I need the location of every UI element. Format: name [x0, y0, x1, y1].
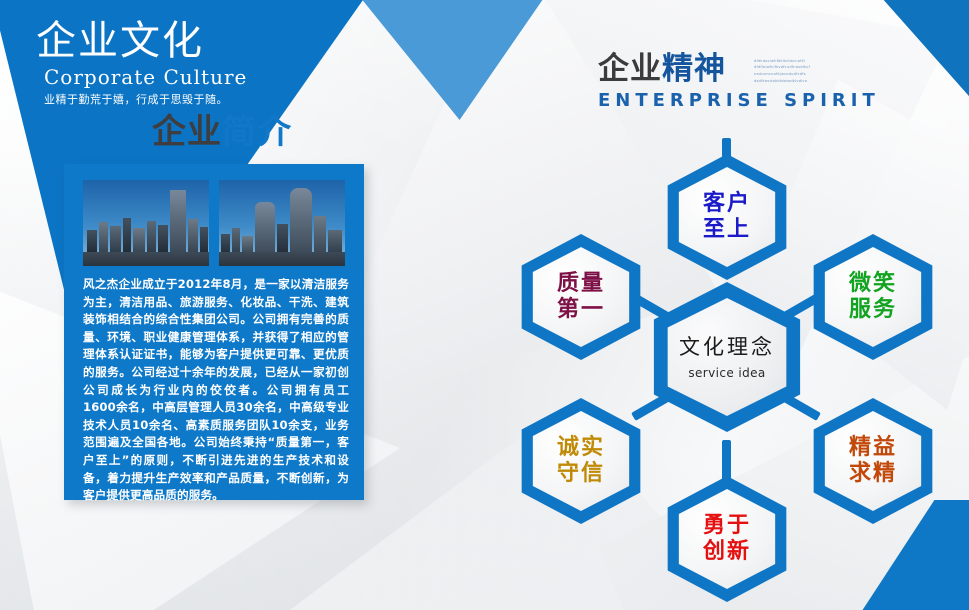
hex-node-quality-first[interactable]: 质量 第一: [512, 234, 650, 360]
hex-label-line2: 第一: [557, 297, 605, 323]
hex-node-continuous-improvement[interactable]: 精益 求精: [804, 398, 942, 524]
hex-center-title-en: service idea: [688, 366, 765, 381]
header-left-title-cn: 企业文化: [36, 18, 356, 64]
header-left-title-en: Corporate Culture: [44, 64, 356, 90]
hex-label-line1: 诚实: [557, 435, 605, 461]
hex-center-culture-concept[interactable]: 文化理念 service idea: [642, 282, 812, 432]
hex-label-line2: 求精: [849, 461, 897, 487]
hex-node-brave-innovation[interactable]: 勇于 创新: [658, 476, 796, 602]
hex-label-line1: 勇于: [703, 513, 751, 539]
hex-node-smile-service[interactable]: 微笑 服务: [804, 234, 942, 360]
hex-label-line2: 守信: [557, 461, 605, 487]
header-right: 企业精神 ENTERPRISE SPIRIT dfdkdociwhfdklkdi…: [598, 50, 928, 112]
cityscape-photo-2: [219, 180, 345, 266]
hex-node-customer-first[interactable]: 客户 至上: [658, 154, 796, 280]
header-left-motto: 业精于勤荒于嬉，行成于思毁于随。: [44, 92, 356, 108]
hex-node-honesty-integrity[interactable]: 诚实 守信: [512, 398, 650, 524]
page-title-suffix: 简介: [222, 112, 292, 152]
hex-label-line1: 精益: [849, 435, 897, 461]
company-profile-card: 风之杰企业成立于2012年8月，是一家以清洁服务为主，清洁用品、旅游服务、化妆品…: [64, 164, 364, 500]
culture-hexagon-cluster: 文化理念 service idea 客户 至上 质量 第一: [480, 110, 969, 610]
photo-strip: [83, 180, 345, 266]
filler-line-3: nsdcsmcnofkjwcodudfcdfs: [754, 72, 866, 77]
header-left: 企业文化 Corporate Culture 业精于勤荒于嬉，行成于思毁于随。: [36, 18, 356, 108]
company-profile-body: 风之杰企业成立于2012年8月，是一家以清洁服务为主，清洁用品、旅游服务、化妆品…: [83, 276, 349, 505]
header-right-title-en: ENTERPRISE SPIRIT: [598, 90, 928, 112]
page-title-company-profile: 企业简介: [152, 112, 292, 152]
hex-label-line2: 服务: [849, 297, 897, 323]
hex-center-title-cn: 文化理念: [679, 334, 775, 360]
page-title-prefix: 企业: [152, 112, 222, 152]
cityscape-photo-1: [83, 180, 209, 266]
hex-label-line1: 客户: [703, 191, 751, 217]
filler-line-1: dfdkdociwhfdklkdiwcnofkl: [754, 59, 866, 64]
decorative-filler-text: dfdkdociwhfdklkdiwcnofkl dfdfloiwfcifkvd…: [754, 54, 866, 88]
hex-label-line2: 至上: [703, 217, 751, 243]
header-right-title-prefix: 企业: [598, 51, 662, 87]
header-right-title-suffix: 精神: [662, 51, 726, 87]
poster-canvas: 企业文化 Corporate Culture 业精于勤荒于嬉，行成于思毁于随。 …: [0, 0, 969, 610]
hex-label-line2: 创新: [703, 539, 751, 565]
hex-label-line1: 质量: [557, 271, 605, 297]
filler-line-4: dsdfkwcdokbfdoiwdklvdlvn: [754, 79, 866, 84]
hex-label-line1: 微笑: [849, 271, 897, 297]
filler-line-2: dfdfloiwfcifkvdfcudfnasdlkuf: [754, 65, 866, 70]
